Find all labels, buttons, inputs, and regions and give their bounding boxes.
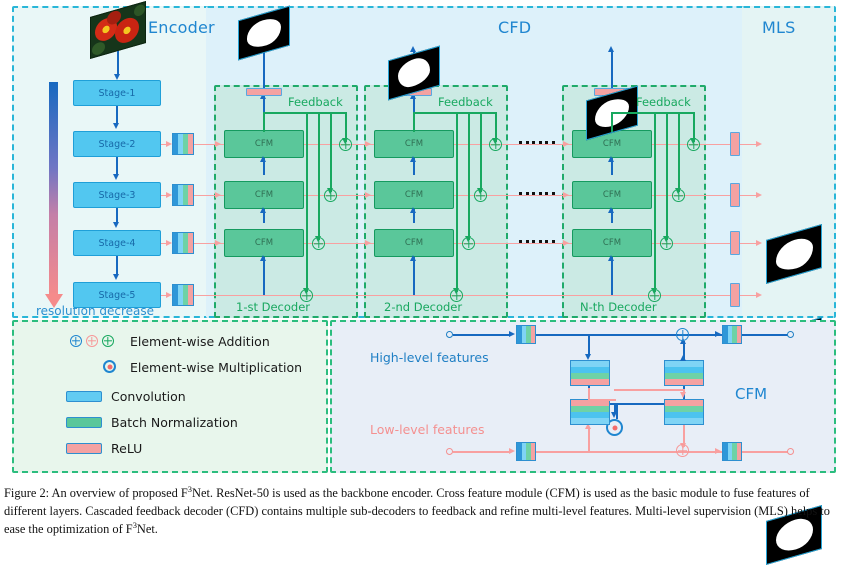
arrowhead-stage5-stack [166, 292, 172, 298]
stage-box-2[interactable]: Stage-2 [73, 131, 161, 157]
arrow-stage4-stage5 [116, 256, 118, 276]
legend-label-convolution: Convolution [111, 389, 186, 404]
arrowhead-s1-s2 [113, 123, 119, 129]
label-low-level-features: Low-level features [370, 422, 484, 437]
arrowhead-s2-s3 [113, 174, 119, 180]
conv-stack-hl-out [722, 325, 742, 344]
figure-caption: Figure 2: An overview of proposed F3Net.… [4, 484, 844, 539]
caption-pre: Figure 2: An overview of proposed F [4, 486, 188, 500]
stage-label-2: Stage-2 [99, 139, 136, 150]
resolution-gradient-arrow [49, 82, 58, 296]
cfm-detail-title: CFM [735, 385, 767, 403]
conv-stack-lateral-4 [172, 232, 194, 254]
relu-bar-mls-3 [730, 231, 740, 255]
conv-swatch-icon [66, 391, 102, 402]
bn-swatch-icon [66, 417, 102, 428]
cfm-label: CFM [405, 139, 423, 149]
add-op-d1-r1 [339, 138, 352, 151]
stage-label-3: Stage-3 [99, 190, 136, 201]
add-op-d1-r3 [312, 237, 325, 250]
legend-row-convolution: Convolution [66, 389, 186, 404]
stage-box-5[interactable]: Stage-5 [73, 282, 161, 308]
legend-row-multiplication: Element-wise Multiplication [103, 359, 302, 375]
cfm-module-d1-r1[interactable]: CFM [224, 130, 304, 158]
block-hl-left [570, 360, 610, 386]
cfm-label: CFM [405, 190, 423, 200]
caption-post: Net. [137, 522, 158, 536]
conv-stack-lateral-3 [172, 184, 194, 206]
cfm-module-dn-r3[interactable]: CFM [572, 229, 652, 257]
block-ll-left [570, 399, 610, 425]
legend-row-batchnorm: Batch Normalization [66, 415, 238, 430]
cfm-module-d1-r3[interactable]: CFM [224, 229, 304, 257]
relu-bar-d1 [246, 88, 282, 96]
add-op-dn-r4 [648, 289, 661, 302]
stage-label-4: Stage-4 [99, 238, 136, 249]
cfm-module-d2-r3[interactable]: CFM [374, 229, 454, 257]
add-op-dn-r3 [660, 237, 673, 250]
arrowhead-stage3-stack [166, 192, 172, 198]
add-op-cfm-low [676, 444, 689, 457]
label-encoder: Encoder [148, 18, 215, 37]
feedback-label-n: Feedback [636, 95, 691, 109]
add-op-d2-r2 [474, 189, 487, 202]
stage-label-5: Stage-5 [99, 290, 136, 301]
decoder-label-1: 1-st Decoder [236, 300, 310, 314]
arrowhead-s4-s5 [113, 274, 119, 280]
feedback-bus-d1 [263, 112, 345, 114]
cfm-label: CFM [603, 190, 621, 200]
cfm-module-d2-r2[interactable]: CFM [374, 181, 454, 209]
bus-row-4 [194, 295, 754, 297]
stage-label-1: Stage-1 [99, 88, 136, 99]
add-op-d2-r1 [489, 138, 502, 151]
port-high-level-out [787, 331, 794, 338]
feedback-bus-d2 [413, 112, 495, 114]
cfm-label: CFM [255, 238, 273, 248]
feedback-label-1: Feedback [288, 95, 343, 109]
relu-bar-mls-4 [730, 283, 740, 307]
legend-label-multiplication: Element-wise Multiplication [130, 360, 302, 375]
conv-stack-ll-in [516, 442, 536, 461]
arrowhead-s3-s4 [113, 222, 119, 228]
arrow-input-to-stage1 [117, 51, 119, 76]
cfm-label: CFM [255, 190, 273, 200]
relu-swatch-icon [66, 443, 102, 454]
add-op-dn-r2 [672, 189, 685, 202]
relu-bar-mls-1 [730, 132, 740, 156]
stage-box-1[interactable]: Stage-1 [73, 80, 161, 106]
label-high-level-features: High-level features [370, 350, 489, 365]
arrowhead-stage4-stack [166, 240, 172, 246]
port-high-level-in [446, 331, 453, 338]
arrow-d1-to-mask [263, 50, 265, 88]
feedback-bus-dn [611, 112, 693, 114]
ellipsis-row-2 [519, 192, 555, 195]
figure-container: Encoder CFD MLS resolution decrease Stag… [0, 0, 847, 547]
arrow-dn-to-mask [611, 50, 613, 88]
legend-label-relu: ReLU [111, 441, 142, 456]
cfm-module-dn-r1[interactable]: CFM [572, 130, 652, 158]
conv-stack-ll-out [722, 442, 742, 461]
stage-box-3[interactable]: Stage-3 [73, 182, 161, 208]
conv-stack-lateral-2 [172, 133, 194, 155]
conv-stack-hl-in [516, 325, 536, 344]
legend-label-batchnorm: Batch Normalization [111, 415, 238, 430]
label-cfd: CFD [498, 18, 531, 37]
legend-row-addition: Element-wise Addition [70, 333, 270, 349]
port-low-level-in [446, 448, 453, 455]
cfm-label: CFM [255, 139, 273, 149]
feedback-label-2: Feedback [438, 95, 493, 109]
add-op-d2-r3 [462, 237, 475, 250]
conv-stack-lateral-5 [172, 284, 194, 306]
decoder-label-n: N-th Decoder [580, 300, 657, 314]
block-hl-right [664, 360, 704, 386]
port-low-level-out [787, 448, 794, 455]
stage-box-4[interactable]: Stage-4 [73, 230, 161, 256]
add-op-d1-r4 [300, 289, 313, 302]
relu-bar-mls-2 [730, 183, 740, 207]
cfm-module-dn-r2[interactable]: CFM [572, 181, 652, 209]
legend-label-addition: Element-wise Addition [130, 334, 270, 349]
block-ll-right [664, 399, 704, 425]
add-op-d1-r2 [324, 189, 337, 202]
cfm-module-d2-r1[interactable]: CFM [374, 130, 454, 158]
add-op-cfm-high [676, 328, 689, 341]
legend-row-relu: ReLU [66, 441, 142, 456]
cfm-label: CFM [405, 238, 423, 248]
add-op-d2-r4 [450, 289, 463, 302]
upflow-d1-r4-r3 [263, 257, 265, 295]
cfm-module-d1-r2[interactable]: CFM [224, 181, 304, 209]
label-mls: MLS [762, 18, 795, 37]
add-op-dn-r1 [687, 138, 700, 151]
arrowhead-stage2-stack [166, 141, 172, 147]
ellipsis-row-1 [519, 141, 555, 144]
cfm-label: CFM [603, 238, 621, 248]
dot-circle-icon [103, 359, 130, 375]
cfm-label: CFM [603, 139, 621, 149]
decoder-label-2: 2-nd Decoder [384, 300, 462, 314]
ellipsis-row-3 [519, 240, 555, 243]
plus-circle-icon [70, 333, 130, 349]
